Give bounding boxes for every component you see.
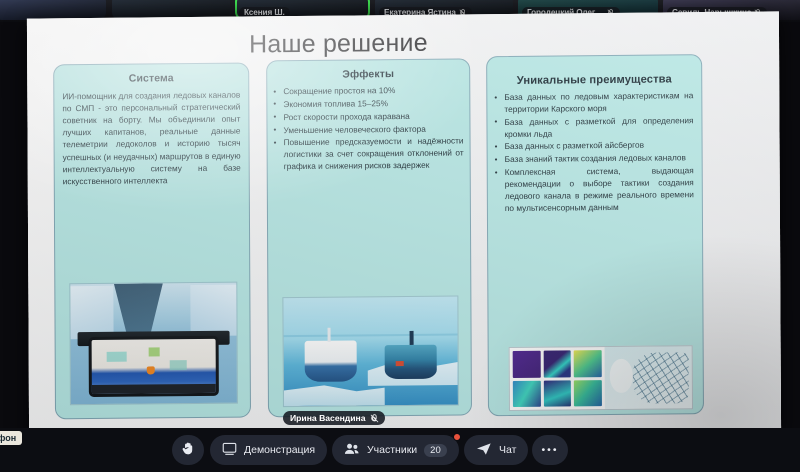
raise-hand-icon	[181, 441, 196, 459]
meeting-screen: Ксения Ш. Екатерина Ястина Городецкий Ол…	[0, 0, 800, 472]
slide-card-system: Система ИИ-помощник для создания ледовых…	[53, 62, 251, 419]
microphone-tooltip: офон	[0, 431, 22, 445]
share-screen-label: Демонстрация	[244, 444, 315, 456]
shared-slide[interactable]: Наше решение Система ИИ-помощник для соз…	[27, 11, 781, 438]
list-item: Комплексная система, выдающая рекомендац…	[493, 165, 694, 214]
more-icon: •••	[541, 444, 558, 456]
list-item: База данных с разметкой для определения …	[492, 115, 693, 141]
card-bullet-list: Сокращение простоя на 10% Экономия топли…	[271, 84, 463, 173]
two-icebreakers-photo	[282, 295, 459, 407]
presenter-name-badge: Ирина Васендина	[283, 411, 385, 425]
heatmap-grid-and-network-photo	[509, 345, 693, 411]
participants-count: 20	[424, 444, 447, 457]
list-item: Повышение предсказуемости и надёжности л…	[272, 136, 464, 173]
list-item: Рост скорости прохода каравана	[271, 110, 463, 124]
share-screen-button[interactable]: Демонстрация	[210, 435, 327, 465]
raise-hand-button[interactable]	[172, 435, 204, 465]
card-bullet-list: База данных по ледовым характеристикам н…	[492, 90, 694, 215]
chat-label: Чат	[499, 444, 516, 456]
more-options-button[interactable]: •••	[532, 435, 568, 465]
card-heading: Система	[60, 72, 242, 86]
notification-dot	[453, 433, 461, 441]
chat-button[interactable]: Чат	[464, 435, 528, 465]
icebreaker-bridge-tablet-photo	[69, 282, 238, 406]
mic-off-icon	[370, 414, 378, 422]
slide-card-effects: Эффекты Сокращение простоя на 10% Эконом…	[266, 58, 472, 417]
list-item: База знаний тактик создания ледовых кана…	[493, 153, 694, 167]
participants-button[interactable]: Участники 20	[332, 435, 459, 465]
card-heading: Уникальные преимущества	[493, 73, 695, 87]
list-item: База данных по ледовым характеристикам н…	[492, 90, 693, 116]
slide-card-advantages: Уникальные преимущества База данных по л…	[486, 54, 704, 416]
screen-share-icon	[222, 442, 237, 459]
list-item: Уменьшение человеческого фактора	[271, 123, 463, 137]
card-heading: Эффекты	[273, 67, 463, 81]
card-paragraph: ИИ-помощник для создания ледовых каналов…	[54, 88, 248, 187]
send-icon	[476, 442, 492, 459]
meeting-toolbar: офон Демонстрация Участники 20 Чат	[0, 428, 800, 472]
list-item: Экономия топлива 15–25%	[271, 97, 463, 111]
participants-label: Участники	[367, 444, 417, 456]
list-item: Сокращение простоя на 10%	[271, 84, 463, 98]
slide-title: Наше решение	[249, 29, 428, 60]
list-item: База данных с разметкой айсбергов	[493, 140, 694, 154]
people-icon	[344, 442, 360, 459]
presenter-name: Ирина Васендина	[290, 413, 366, 423]
